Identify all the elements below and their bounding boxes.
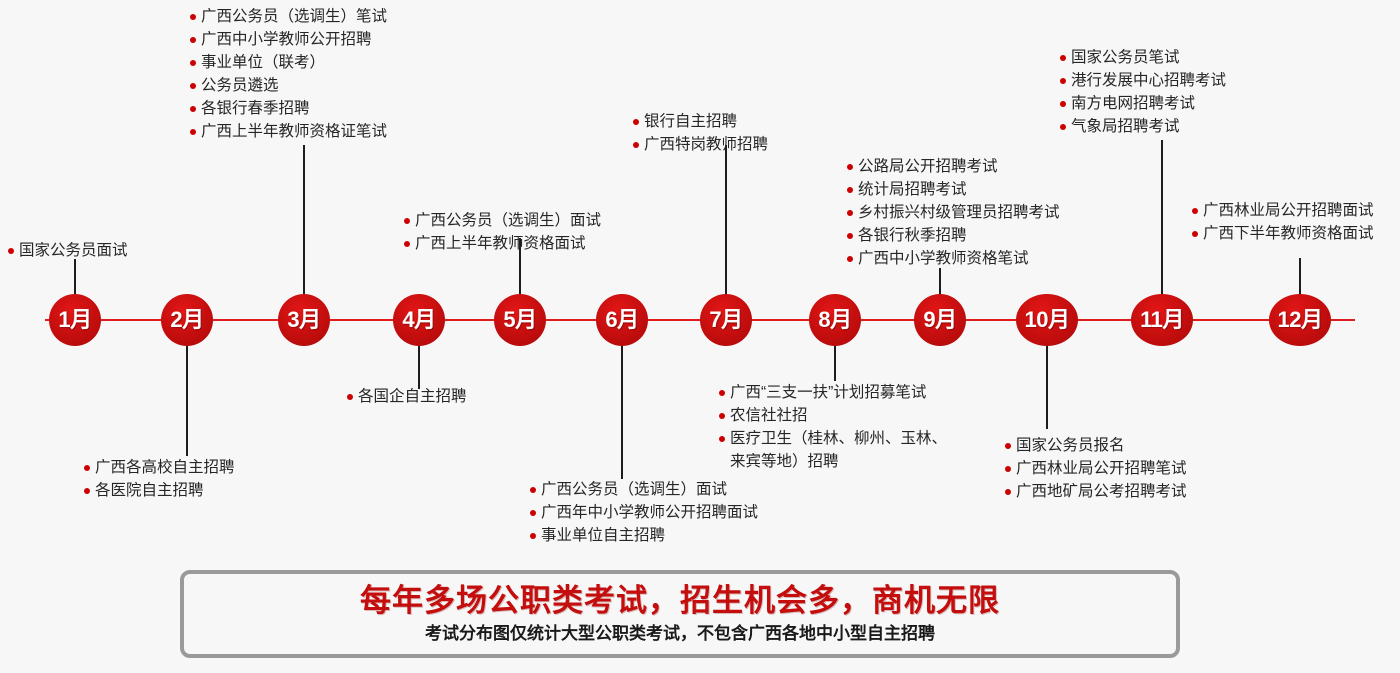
- list-item: 事业单位自主招聘: [530, 524, 758, 547]
- list-item: 广西“三支一扶”计划招募笔试: [719, 381, 947, 404]
- list-item: 国家公务员面试: [8, 239, 128, 262]
- list-item: 港行发展中心招聘考试: [1060, 69, 1226, 92]
- stem-november: [1161, 140, 1163, 294]
- event-list-march: 广西公务员（选调生）笔试 广西中小学教师公开招聘 事业单位（联考） 公务员遴选 …: [190, 5, 387, 143]
- list-item: 广西公务员（选调生）面试: [404, 209, 601, 232]
- list-item: 广西林业局公开招聘笔试: [1005, 457, 1187, 480]
- list-item: 广西各高校自主招聘: [84, 456, 235, 479]
- stem-september: [939, 268, 941, 294]
- list-item: 广西特岗教师招聘: [633, 133, 768, 156]
- list-item-continuation: 来宾等地）招聘: [719, 450, 947, 473]
- stem-december: [1299, 258, 1301, 294]
- list-item: 广西公务员（选调生）面试: [530, 478, 758, 501]
- event-list-july: 银行自主招聘 广西特岗教师招聘: [633, 110, 768, 156]
- stem-october: [1046, 346, 1048, 429]
- list-item: 乡村振兴村级管理员招聘考试: [847, 201, 1060, 224]
- list-item: 广西上半年教师资格证笔试: [190, 120, 387, 143]
- list-item: 广西上半年教师资格面试: [404, 232, 601, 255]
- month-node-november[interactable]: 11月: [1131, 294, 1193, 346]
- month-node-october[interactable]: 10月: [1016, 294, 1078, 346]
- label-block-september: 公路局公开招聘考试 统计局招聘考试 乡村振兴村级管理员招聘考试 各银行秋季招聘 …: [847, 155, 1060, 270]
- event-list-february: 广西各高校自主招聘 各医院自主招聘: [84, 456, 235, 502]
- month-node-august[interactable]: 8月: [809, 294, 861, 346]
- stem-august: [834, 346, 836, 381]
- month-node-april[interactable]: 4月: [393, 294, 445, 346]
- list-item: 农信社社招: [719, 404, 947, 427]
- list-item: 国家公务员笔试: [1060, 46, 1226, 69]
- label-block-february: 广西各高校自主招聘 各医院自主招聘: [84, 456, 235, 502]
- list-item: 公路局公开招聘考试: [847, 155, 1060, 178]
- summary-banner: 每年多场公职类考试，招生机会多，商机无限 考试分布图仅统计大型公职类考试，不包含…: [180, 570, 1180, 658]
- list-item: 广西年中小学教师公开招聘面试: [530, 501, 758, 524]
- list-item: 事业单位（联考）: [190, 51, 387, 74]
- stem-january: [74, 259, 76, 294]
- list-item: 南方电网招聘考试: [1060, 92, 1226, 115]
- list-item: 国家公务员报名: [1005, 434, 1187, 457]
- stem-july: [725, 145, 727, 294]
- stem-february: [186, 346, 188, 456]
- event-list-october: 国家公务员报名 广西林业局公开招聘笔试 广西地矿局公考招聘考试: [1005, 434, 1187, 503]
- stem-march: [303, 145, 305, 294]
- list-item: 广西林业局公开招聘面试: [1192, 199, 1374, 222]
- label-block-november: 国家公务员笔试 港行发展中心招聘考试 南方电网招聘考试 气象局招聘考试: [1060, 46, 1226, 138]
- event-list-november: 国家公务员笔试 港行发展中心招聘考试 南方电网招聘考试 气象局招聘考试: [1060, 46, 1226, 138]
- label-block-march: 广西公务员（选调生）笔试 广西中小学教师公开招聘 事业单位（联考） 公务员遴选 …: [190, 5, 387, 143]
- list-item: 统计局招聘考试: [847, 178, 1060, 201]
- list-item: 各国企自主招聘: [347, 385, 467, 408]
- list-item: 广西中小学教师公开招聘: [190, 28, 387, 51]
- list-item: 广西中小学教师资格笔试: [847, 247, 1060, 270]
- banner-subtitle: 考试分布图仅统计大型公职类考试，不包含广西各地中小型自主招聘: [425, 621, 935, 647]
- label-block-august: 广西“三支一扶”计划招募笔试 农信社社招 医疗卫生（桂林、柳州、玉林、 来宾等地…: [719, 381, 947, 473]
- event-list-august: 广西“三支一扶”计划招募笔试 农信社社招 医疗卫生（桂林、柳州、玉林、 来宾等地…: [719, 381, 947, 473]
- event-list-june: 广西公务员（选调生）面试 广西年中小学教师公开招聘面试 事业单位自主招聘: [530, 478, 758, 547]
- month-node-december[interactable]: 12月: [1269, 294, 1331, 346]
- banner-title: 每年多场公职类考试，招生机会多，商机无限: [360, 582, 1000, 620]
- month-node-february[interactable]: 2月: [161, 294, 213, 346]
- label-block-june: 广西公务员（选调生）面试 广西年中小学教师公开招聘面试 事业单位自主招聘: [530, 478, 758, 547]
- timeline-infographic: 1月 2月 3月 4月 5月 6月 7月 8月 9月 10月 11月 12月 国…: [0, 0, 1400, 673]
- label-block-january: 国家公务员面试: [8, 239, 128, 262]
- list-item: 公务员遴选: [190, 74, 387, 97]
- event-list-may: 广西公务员（选调生）面试 广西上半年教师资格面试: [404, 209, 601, 255]
- list-item: 气象局招聘考试: [1060, 115, 1226, 138]
- month-node-january[interactable]: 1月: [49, 294, 101, 346]
- list-item: 银行自主招聘: [633, 110, 768, 133]
- month-node-july[interactable]: 7月: [700, 294, 752, 346]
- month-node-march[interactable]: 3月: [278, 294, 330, 346]
- event-list-september: 公路局公开招聘考试 统计局招聘考试 乡村振兴村级管理员招聘考试 各银行秋季招聘 …: [847, 155, 1060, 270]
- list-item: 广西公务员（选调生）笔试: [190, 5, 387, 28]
- list-item: 各银行秋季招聘: [847, 224, 1060, 247]
- event-list-december: 广西林业局公开招聘面试 广西下半年教师资格面试: [1192, 199, 1374, 245]
- label-block-december: 广西林业局公开招聘面试 广西下半年教师资格面试: [1192, 199, 1374, 245]
- list-item: 广西地矿局公考招聘考试: [1005, 480, 1187, 503]
- month-node-june[interactable]: 6月: [596, 294, 648, 346]
- list-item: 各医院自主招聘: [84, 479, 235, 502]
- list-item: 医疗卫生（桂林、柳州、玉林、: [719, 427, 947, 450]
- label-block-may: 广西公务员（选调生）面试 广西上半年教师资格面试: [404, 209, 601, 255]
- list-item: 广西下半年教师资格面试: [1192, 222, 1374, 245]
- stem-june: [621, 346, 623, 479]
- label-block-october: 国家公务员报名 广西林业局公开招聘笔试 广西地矿局公考招聘考试: [1005, 434, 1187, 503]
- list-item: 各银行春季招聘: [190, 97, 387, 120]
- month-node-may[interactable]: 5月: [494, 294, 546, 346]
- label-block-july: 银行自主招聘 广西特岗教师招聘: [633, 110, 768, 156]
- label-block-april: 各国企自主招聘: [347, 385, 467, 408]
- event-list-april: 各国企自主招聘: [347, 385, 467, 408]
- month-node-september[interactable]: 9月: [914, 294, 966, 346]
- stem-april: [418, 346, 420, 389]
- event-list-january: 国家公务员面试: [8, 239, 128, 262]
